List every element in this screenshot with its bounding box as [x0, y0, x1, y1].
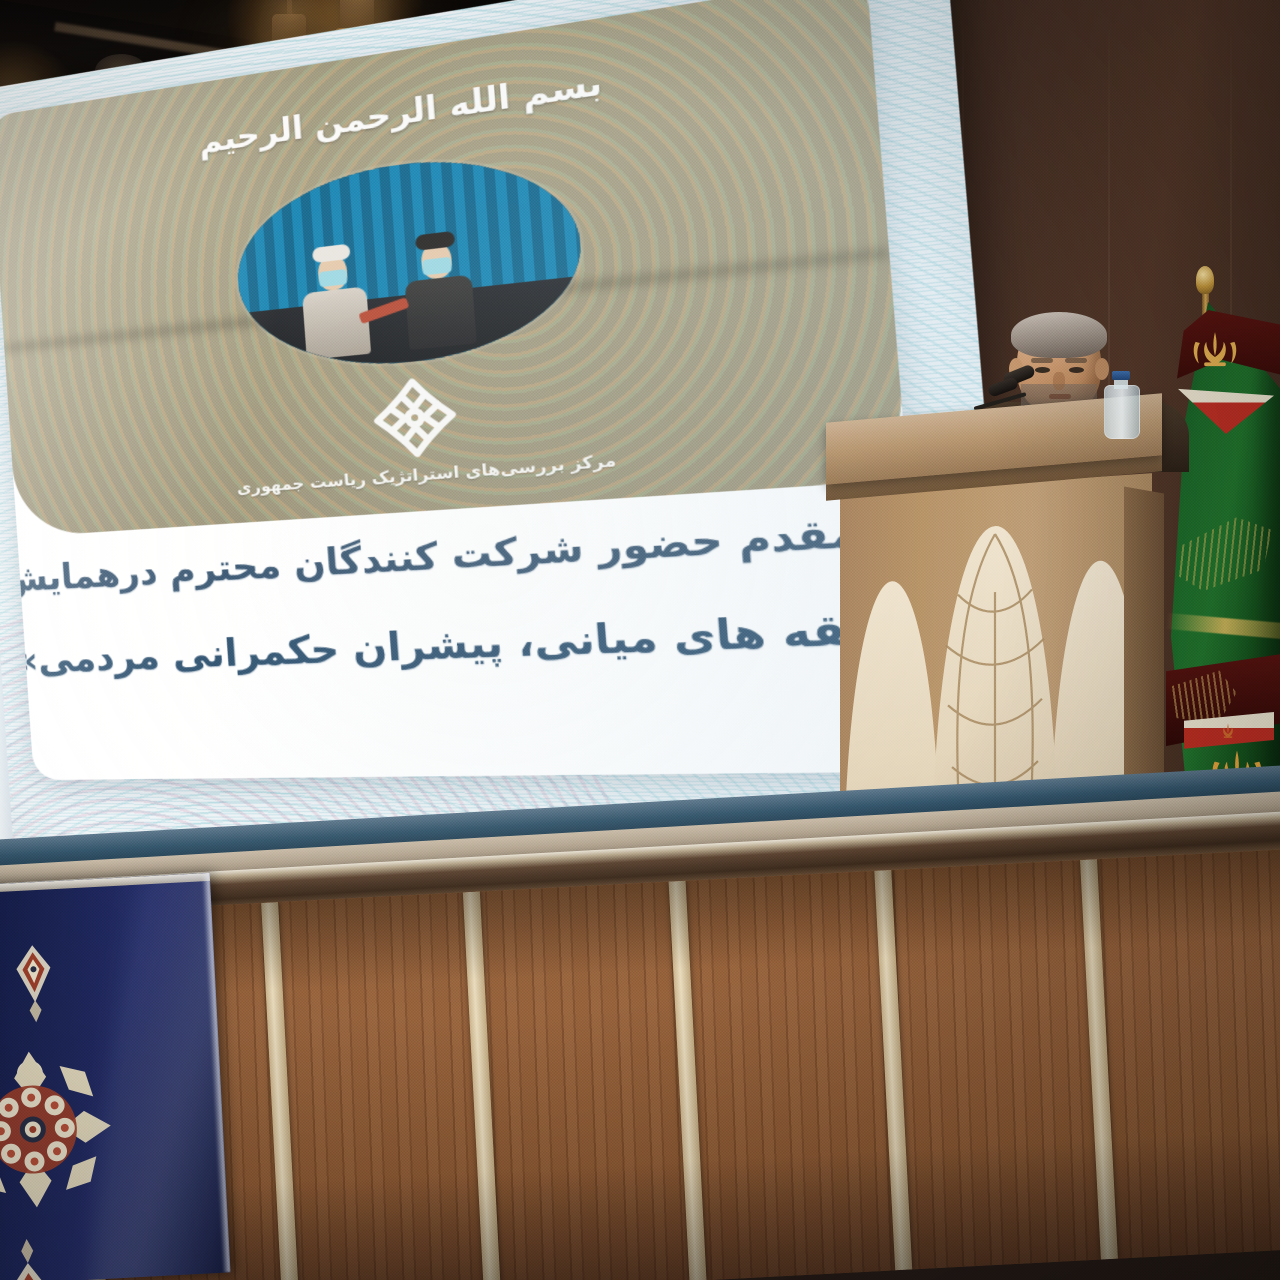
speaker-hair	[1011, 312, 1107, 358]
organization-logo-icon	[363, 366, 468, 469]
speaker-eye-right	[1069, 367, 1084, 373]
banner-motif-small-bottom	[0, 1233, 72, 1280]
speaker-eye-left	[1035, 367, 1050, 373]
banner-motif-small-top	[0, 940, 71, 1030]
photo-person-right	[402, 239, 477, 350]
iran-emblem-icon	[1188, 330, 1242, 376]
water-bottle	[1104, 371, 1138, 437]
slide-conference-title: «حلقه های میانی، پیشران حکمرانی مردمی»	[14, 603, 932, 682]
photo-face-mask	[319, 269, 348, 287]
photo-face-mask	[422, 257, 452, 276]
speaker-eyebrow-right	[1065, 358, 1087, 363]
photo-white-turban	[312, 244, 351, 264]
iran-emblem-small-icon	[1216, 722, 1240, 742]
presentation-slide: بسم الله الرحمن الرحیم	[0, 0, 932, 780]
speaker-eyebrow-left	[1031, 358, 1053, 363]
light-arm	[287, 0, 292, 14]
photo-person-left	[300, 252, 372, 360]
bottle-cap	[1112, 371, 1130, 380]
blue-ornamental-banner	[0, 873, 231, 1280]
speaker-nose	[1053, 372, 1065, 390]
bottle-body	[1104, 385, 1140, 439]
photo-robe	[302, 287, 371, 361]
stage-photograph-scene: بسم الله الرحمن الرحیم	[0, 0, 1280, 1280]
flag-finial-icon	[1196, 266, 1214, 294]
photo-robe	[405, 275, 477, 350]
photo-black-turban	[415, 231, 455, 251]
